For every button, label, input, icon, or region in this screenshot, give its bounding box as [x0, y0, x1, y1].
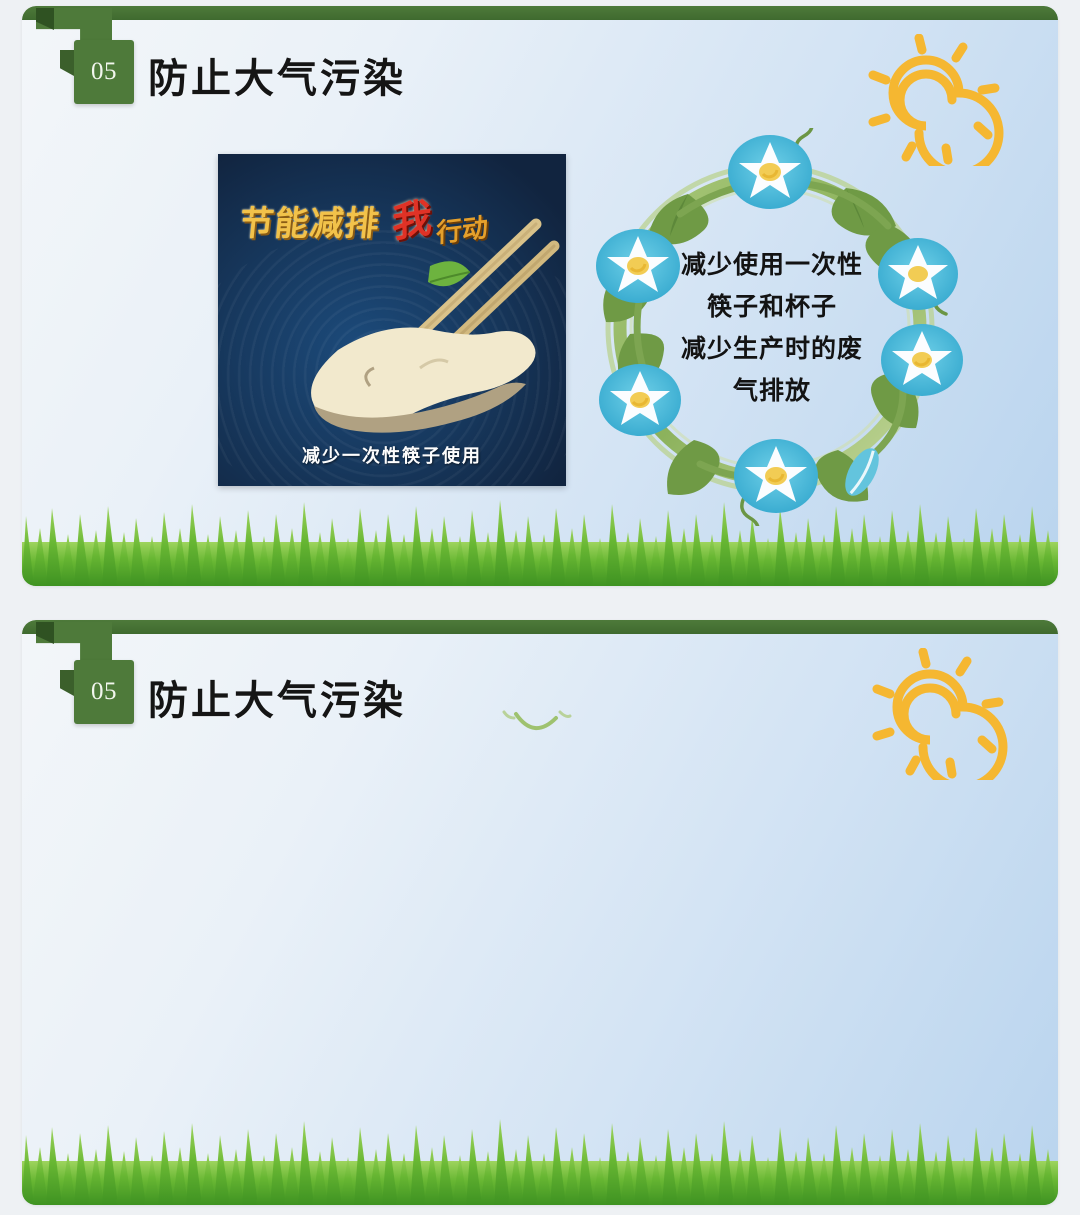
poster-caption: 减少一次性筷子使用 [218, 442, 566, 468]
grass-border [22, 1113, 1058, 1205]
card-header: 05 防止大气污染 [22, 6, 1058, 116]
wreath-line: 筷子和杯子 [638, 286, 906, 328]
wreath-line: 减少使用一次性 [638, 244, 906, 286]
page-title: 防止大气污染 [148, 46, 406, 104]
wreath-line: 减少生产时的废 [638, 328, 906, 370]
section-number-badge: 05 [74, 40, 134, 104]
page-title: 防止大气污染 [148, 668, 406, 726]
poster-illustration [218, 154, 566, 486]
wreath-message-1: 减少使用一次性 筷子和杯子 减少生产时的废 气排放 [638, 244, 906, 412]
card-header: 05 防止大气污染 [22, 620, 1058, 730]
card-air-pollution-2: 05 防止大气污染 [22, 620, 1058, 1205]
poster-page: 05 防止大气污染 节能减排 我 [0, 0, 1080, 1215]
section-number-badge: 05 [74, 660, 134, 724]
wreath-line: 气排放 [638, 370, 906, 412]
chopsticks-poster-image: 节能减排 我 行动 减少一次 [218, 154, 566, 486]
card-air-pollution-1: 05 防止大气污染 节能减排 我 [22, 6, 1058, 586]
